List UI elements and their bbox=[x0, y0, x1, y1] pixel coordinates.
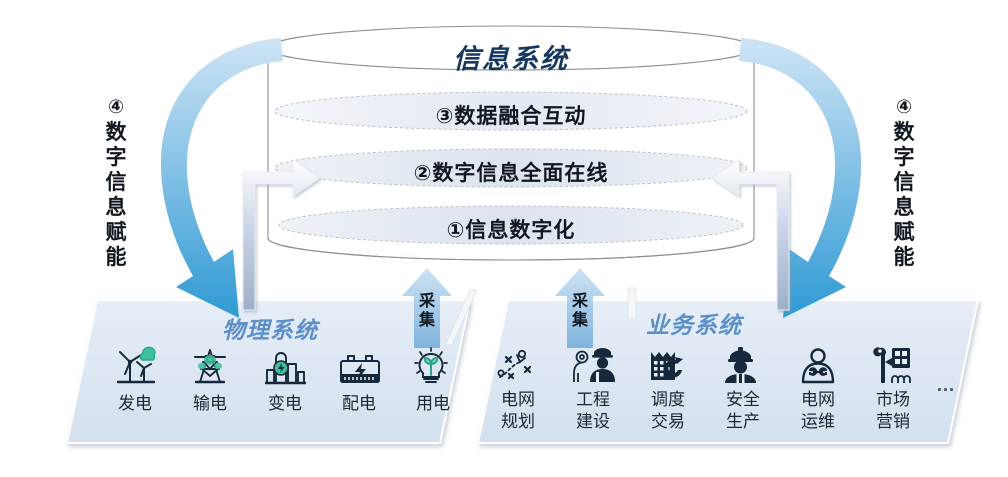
collect-left-char-1: 集 bbox=[412, 311, 442, 330]
business-item-3[interactable]: 安全 生产 bbox=[706, 388, 780, 432]
business-system-title: 业务系统 bbox=[646, 306, 742, 340]
diagram-root: 信息系统 ③数据融合互动 ②数字信息全面在线 ①信息数字化 ④ 数 字 信 息 … bbox=[0, 0, 1008, 477]
right-empower-char-0: 数 bbox=[882, 120, 926, 145]
physical-item-3[interactable]: 配电 bbox=[322, 392, 396, 414]
layer-1-label: ①信息数字化 bbox=[268, 214, 754, 244]
business-item-2[interactable]: 调度 交易 bbox=[631, 388, 705, 432]
left-empower-char-4: 赋 bbox=[94, 220, 138, 245]
physical-item-4-label: 用电 bbox=[396, 394, 470, 414]
layer-3-label: ③数据融合互动 bbox=[268, 100, 754, 130]
business-item-4[interactable]: 电网 运维 bbox=[781, 388, 855, 432]
physical-item-2-label: 变电 bbox=[248, 394, 322, 414]
physical-system-title: 物理系统 bbox=[222, 311, 318, 345]
left-empower-char-0: 数 bbox=[94, 120, 138, 145]
business-item-4-label1: 电网 bbox=[781, 390, 855, 410]
right-empower-char-1: 字 bbox=[882, 145, 926, 170]
left-empower-char-3: 息 bbox=[94, 195, 138, 220]
business-more-ellipsis: … bbox=[936, 375, 957, 397]
right-empower-number: ④ bbox=[882, 96, 926, 120]
business-item-0[interactable]: 电网 规划 bbox=[481, 388, 555, 432]
business-item-2-label1: 调度 bbox=[631, 390, 705, 410]
physical-item-1-label: 输电 bbox=[173, 394, 247, 414]
collect-arrow-left-label: 采 集 bbox=[412, 292, 442, 330]
left-empower-char-2: 信 bbox=[94, 170, 138, 195]
right-empower-char-3: 息 bbox=[882, 195, 926, 220]
business-item-0-label1: 电网 bbox=[481, 390, 555, 410]
collect-right-char-1: 集 bbox=[565, 311, 595, 330]
business-item-5-label2: 营销 bbox=[856, 412, 930, 432]
physical-item-0-label: 发电 bbox=[98, 394, 172, 414]
panel-divider-right bbox=[628, 288, 636, 318]
right-empower-label: ④ 数 字 信 息 赋 能 bbox=[882, 96, 926, 270]
physical-item-4[interactable]: 用电 bbox=[396, 392, 470, 414]
information-system-title: 信息系统 bbox=[268, 37, 754, 76]
right-empower-char-5: 能 bbox=[882, 245, 926, 270]
business-item-3-label2: 生产 bbox=[706, 412, 780, 432]
collect-left-char-0: 采 bbox=[412, 292, 442, 311]
physical-item-1[interactable]: 输电 bbox=[173, 392, 247, 414]
business-item-1-label2: 建设 bbox=[556, 412, 630, 432]
physical-item-0[interactable]: 发电 bbox=[98, 392, 172, 414]
left-empower-number: ④ bbox=[94, 96, 138, 120]
business-item-1-label1: 工程 bbox=[556, 390, 630, 410]
business-item-2-label2: 交易 bbox=[631, 412, 705, 432]
physical-item-3-label: 配电 bbox=[322, 394, 396, 414]
right-empower-char-2: 信 bbox=[882, 170, 926, 195]
business-item-0-label2: 规划 bbox=[481, 412, 555, 432]
business-item-4-label2: 运维 bbox=[781, 412, 855, 432]
left-empower-char-1: 字 bbox=[94, 145, 138, 170]
left-empower-char-5: 能 bbox=[94, 245, 138, 270]
business-item-5-label1: 市场 bbox=[856, 390, 930, 410]
business-item-3-label1: 安全 bbox=[706, 390, 780, 410]
physical-item-2[interactable]: 变电 bbox=[248, 392, 322, 414]
business-item-5[interactable]: 市场 营销 bbox=[856, 388, 930, 432]
business-item-1[interactable]: 工程 建设 bbox=[556, 388, 630, 432]
right-empower-char-4: 赋 bbox=[882, 220, 926, 245]
left-empower-label: ④ 数 字 信 息 赋 能 bbox=[94, 96, 138, 270]
collect-arrow-right-label: 采 集 bbox=[565, 292, 595, 330]
layer-2-label: ②数字信息全面在线 bbox=[268, 157, 754, 187]
collect-right-char-0: 采 bbox=[565, 292, 595, 311]
